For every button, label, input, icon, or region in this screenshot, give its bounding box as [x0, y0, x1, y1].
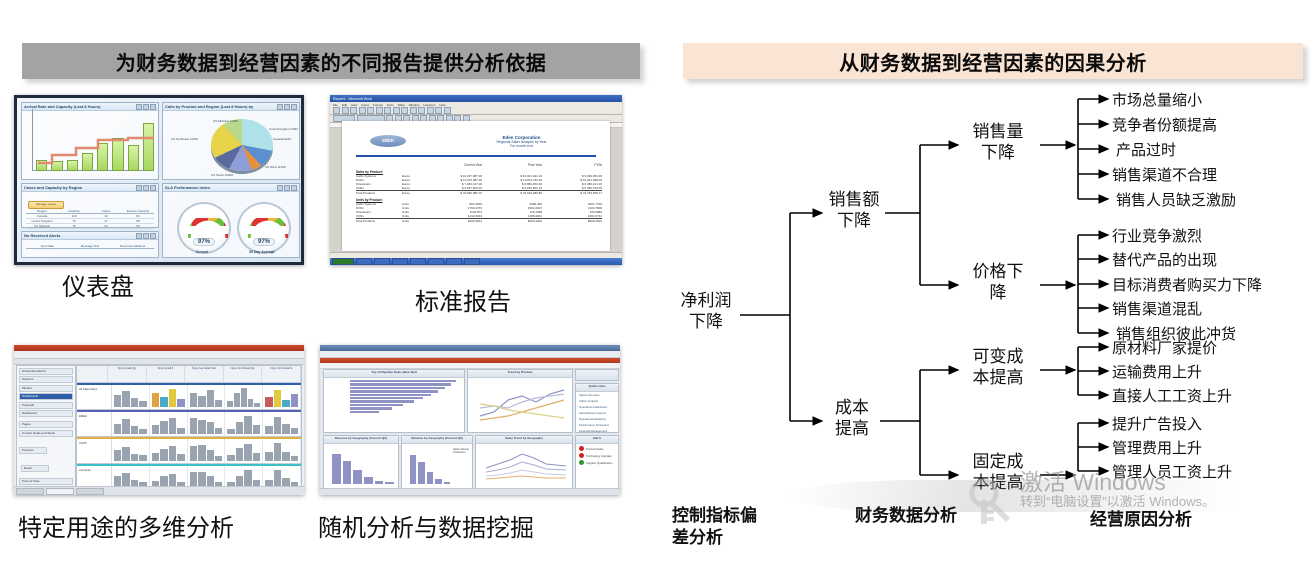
sparkline-cell — [188, 385, 226, 409]
column-label-financial: 财务数据分析 — [855, 505, 957, 527]
v2: $ 6,240,800.10 — [482, 186, 542, 190]
pie-label: Canada 9225 — [273, 137, 291, 141]
col-prior-year: Prior Year — [482, 163, 542, 167]
status-tabs[interactable] — [14, 486, 304, 495]
olap-window: Enterprise Metrics Sections Monitor Dash… — [14, 345, 304, 495]
bi-window: Top 10 Pipeline Deals (Best Net) Trend b… — [320, 345, 620, 495]
v3: 1002.0714 — [542, 214, 602, 218]
gauge-label: Current — [177, 250, 227, 254]
document-page: eden Eden Corporation Regional Sales Ana… — [342, 121, 610, 251]
cell: 58 — [122, 219, 154, 223]
card-sales-trend-by-geography: Sales Trend by Geography — [475, 435, 573, 491]
alert-label: Supplier Qualification — [586, 461, 612, 465]
metrics-grid[interactable]: Oppy Detail Qty Oppy Detail $ Oppy Avg D… — [76, 365, 302, 487]
alert-row[interactable]: Technology Upgrade — [579, 453, 615, 458]
vertical-bars — [332, 446, 394, 484]
col-oppy-avg-size: Oppy Avg Detail Size — [185, 366, 224, 382]
pie-label: United Kingdom 9362 — [269, 127, 298, 131]
alert-label: Product Sales — [586, 447, 603, 451]
tree-title: Enterprise Metrics — [19, 368, 73, 375]
col-region: Region — [26, 209, 58, 213]
row-unit: Euros — [402, 191, 422, 195]
report-heading: Eden Corporation Regional Sales Analysis… — [447, 135, 596, 148]
cell: 17 — [90, 219, 122, 223]
col-excess: Excess Capacity — [122, 209, 154, 213]
cause-effect-diagram: 净利润 下降 销售额 下降 成本 提高 销售量 下降 价格下 降 可变成 本提高… — [670, 85, 1315, 505]
thumbnail-standard-report[interactable]: Report1 - Microsoft Word File Edit View … — [330, 95, 622, 265]
menu-help[interactable]: Help — [439, 103, 445, 107]
window-buttons[interactable] — [136, 185, 156, 191]
cell: US Midwest — [26, 224, 58, 228]
trend-lines — [484, 450, 568, 482]
col-recommendations: Recommendations — [111, 244, 154, 248]
table-row[interactable]: US Midwest 75 20 55 — [26, 224, 154, 229]
cell: 84 — [122, 214, 154, 218]
pie-label: US Midwest 11306 — [213, 119, 238, 123]
card-quick-links: Quick Links Status Overview Adhoc Analys… — [575, 383, 619, 433]
panel-alerts: No Received Alerts Sent Date Message Tex… — [21, 231, 159, 258]
panel-calls-by-product: Calls by Product and Region (Last 8 Hour… — [162, 102, 300, 180]
capacity-line — [36, 131, 156, 171]
leaf-product-obsolete[interactable]: 产品过时 — [1116, 139, 1176, 160]
gauge-value: 97% — [193, 238, 215, 246]
alert-row[interactable]: Supplier Qualification — [579, 460, 615, 465]
y-axis — [32, 109, 33, 171]
sparkline-cell — [225, 412, 263, 436]
leaf-channel-chaos[interactable]: 销售渠道混乱 — [1112, 298, 1202, 319]
card-title: Alerts — [576, 436, 618, 444]
row-name: Total Products — [356, 219, 402, 223]
col-oppy-first-amt: Oppy First Detail $ — [262, 366, 301, 382]
card-title: Revenue by Geography (Current Qtr) — [324, 436, 398, 444]
cell: 75 — [58, 219, 90, 223]
grid-row[interactable]: CAPS — [77, 439, 301, 464]
sparkline-cell — [263, 439, 301, 463]
report-row: VCRsUnits1442.00341188.20011002.0714 — [356, 214, 602, 218]
v1: 1442.0034 — [422, 214, 482, 218]
nav-dashboards[interactable]: Dashboards — [19, 393, 73, 400]
card-title: Top 10 Pipeline Deals (Best Net) — [324, 370, 464, 378]
node-variable-cost-increase[interactable]: 可变成 本提高 — [958, 347, 1038, 388]
grid-row[interactable]: EMEA — [77, 412, 301, 437]
window-buttons[interactable] — [277, 185, 297, 191]
nav-monitor[interactable]: Monitor — [19, 385, 73, 392]
window-buttons[interactable] — [277, 104, 297, 110]
word-toolbar[interactable] — [330, 107, 622, 115]
menu-window[interactable]: Window — [409, 103, 420, 107]
prev-button[interactable]: Previous — [19, 447, 47, 454]
sparkline-cell — [150, 439, 188, 463]
thumbnail-multidim-analysis[interactable]: Enterprise Metrics Sections Monitor Dash… — [14, 345, 304, 495]
node-sales-volume-decline[interactable]: 销售量 下降 — [958, 122, 1038, 163]
v1: $ 34,990,982.70 — [422, 191, 482, 195]
leaf-channel-unreasonable[interactable]: 销售渠道不合理 — [1112, 164, 1217, 185]
divider — [356, 155, 596, 157]
nav-sections[interactable]: Sections — [19, 376, 73, 383]
pie-label: US Northeast 11209 — [171, 137, 198, 141]
col-current-year: Current Year — [422, 163, 482, 167]
nav-dashboard[interactable]: Dashboard — [19, 410, 73, 417]
sparkline-cell — [225, 385, 263, 409]
word-titlebar: Report1 - Microsoft Word — [330, 95, 622, 102]
cell: United Kingdom — [26, 219, 58, 223]
alert-label: Technology Upgrade — [586, 454, 612, 458]
row-name: Total Products — [356, 191, 402, 195]
menu-hyperion[interactable]: Hyperion — [423, 103, 435, 107]
cases-table: Region Capacity Cases Excess Capacity Ca… — [26, 209, 154, 225]
table-header-row: Sent Date Message Text Recommendations — [26, 244, 154, 249]
grid-header-row: Oppy Detail Qty Oppy Detail $ Oppy Avg D… — [77, 366, 301, 383]
word-window: Report1 - Microsoft Word File Edit View … — [330, 95, 622, 265]
card-title: Variance by Geography (Current Qtr) — [402, 436, 472, 444]
node-root[interactable]: 净利润 下降 — [670, 291, 742, 332]
logo-text: eden — [370, 138, 406, 144]
report-col-headers: Current Year Prior Year FY06 — [356, 163, 602, 167]
col-cases: Cases — [90, 209, 122, 213]
sparkline-cell — [150, 412, 188, 436]
caption-dashboard: 仪表盘 — [62, 267, 134, 302]
report-body: Current Year Prior Year FY06 Sales by Pr… — [356, 163, 602, 223]
activate-windows-watermark: 激活 Windows 转到“电脑设置”以激活 Windows。 — [1020, 470, 1215, 510]
cell: 16 — [90, 214, 122, 218]
gauge-value: 97% — [253, 238, 275, 246]
gauge-30day: 97% — [237, 202, 291, 254]
menu-view[interactable]: View — [351, 103, 357, 107]
row-label: EMEA — [77, 412, 112, 436]
report-subtitle-2: For month end — [447, 144, 596, 148]
node-sales-revenue-decline[interactable]: 销售额 下降 — [818, 190, 890, 231]
leaf-salesforce-unmotivated[interactable]: 销售人员缺乏激励 — [1116, 189, 1236, 210]
card-trend-by-product: Trend by Product — [467, 369, 573, 433]
panel-arrival-rate: Arrival Rate and Capacity (Last 8 Hours) — [21, 102, 159, 180]
windows-taskbar[interactable] — [330, 258, 622, 265]
pie-label: US West 11910 — [265, 165, 286, 169]
app-menubar[interactable] — [14, 351, 304, 359]
col-oppy-first-qty: Oppy First Detail Qty — [224, 366, 263, 382]
alert-row[interactable]: Product Sales — [579, 446, 615, 451]
slide-canvas: 为财务数据到经营因素的不同报告提供分析依据 Arrival Rate and C… — [0, 0, 1315, 567]
gauge-label: 30 Day Average — [237, 250, 287, 254]
eden-logo: eden — [370, 135, 406, 147]
sparkline-cell — [150, 385, 188, 409]
row-unit: Units — [402, 219, 422, 223]
sparkline-cell — [112, 385, 150, 409]
row-name: VCRs — [356, 214, 402, 218]
pages-label: Pages — [19, 421, 73, 428]
col-capacity: Capacity — [58, 209, 90, 213]
alerts-table: Sent Date Message Text Recommendations — [26, 244, 154, 255]
card-title: Quick Links — [576, 384, 618, 392]
left-section-header: 为财务数据到经营因素的不同报告提供分析依据 — [22, 43, 640, 79]
grid-row[interactable]: All Sales Reps — [77, 385, 301, 410]
report-row: VCRsEuros$ 6,667,600.00$ 6,240,800.10$ 6… — [356, 186, 602, 190]
leaf-buying-power-down[interactable]: 目标消费者购买力下降 — [1112, 274, 1262, 295]
v1: $ 6,667,600.00 — [422, 186, 482, 190]
card-title: Sales Trend by Geography — [476, 436, 572, 444]
dashboard-canvas: Arrival Rate and Capacity (Last 8 Hours)… — [14, 95, 304, 265]
thumbnail-datamining[interactable]: Top 10 Pipeline Deals (Best Net) Trend b… — [320, 345, 620, 495]
sparkline-cell — [112, 439, 150, 463]
node-price-decline[interactable]: 价格下 降 — [958, 262, 1038, 303]
col-oppy-detail-amt: Oppy Detail $ — [147, 366, 186, 382]
report-total-row: Total ProductsUnits$100,3001$200,2000$60… — [356, 218, 602, 223]
column-label-causes: 经营原因分析 — [1090, 509, 1192, 531]
menu-edit[interactable]: Edit — [342, 103, 347, 107]
menu-tools[interactable]: Tools — [387, 103, 394, 107]
card-top-deals: Top 10 Pipeline Deals (Best Net) — [323, 369, 465, 433]
leaf-competitor-share-up[interactable]: 竞争者份额提高 — [1112, 114, 1217, 135]
gauge-current: 97% — [177, 202, 231, 254]
panel-cases-capacity: Cases and Capacity by Region Manage Case… — [21, 183, 159, 228]
pie-chart — [211, 119, 273, 171]
v3: $ 31,763,878.17 — [542, 191, 602, 195]
sparkline-cell — [263, 385, 301, 409]
col-sent-date: Sent Date — [26, 244, 69, 248]
browser-menubar[interactable] — [320, 351, 620, 358]
watermark-line-1: 激活 Windows — [1020, 470, 1215, 494]
card-revenue-by-geography: Revenue by Geography (Current Qtr) — [323, 435, 399, 491]
row-unit: Euros — [402, 186, 422, 190]
leaf-admin-cost-up[interactable]: 管理费用上升 — [1112, 437, 1202, 458]
vertical-bars — [410, 446, 450, 484]
leaf-raw-material-price-up[interactable]: 原材料厂家提价 — [1112, 337, 1217, 358]
card-alerts: Alerts Product Sales Technology Upgrade … — [575, 435, 619, 491]
browser-statusbar — [320, 488, 620, 495]
watermark-line-2: 转到“电脑设置”以激活 Windows。 — [1020, 494, 1215, 510]
nav-proposal[interactable]: Proposal — [19, 402, 73, 409]
sparkline-cell — [263, 412, 301, 436]
pages-select[interactable]: Current Goals and Stock — [19, 430, 73, 437]
menu-insert[interactable]: Insert — [361, 103, 369, 107]
row-unit: Units — [402, 214, 422, 218]
cell: 55 — [122, 224, 154, 228]
alert-status-icon — [579, 453, 584, 458]
leaf-shipping-cost-up[interactable]: 运输费用上升 — [1112, 361, 1202, 382]
sparkline-cell — [188, 439, 226, 463]
pov-title: Point of View — [19, 478, 73, 485]
leaf-ad-spend-up[interactable]: 提升广告投入 — [1112, 413, 1202, 434]
menu-file[interactable]: File — [333, 103, 338, 107]
pie-label: US South 12906 — [211, 173, 233, 177]
row-label: CAPS — [77, 439, 112, 463]
leaf-industry-competition[interactable]: 行业竞争激烈 — [1112, 225, 1202, 246]
alert-status-icon — [579, 460, 584, 465]
manage-cases-button[interactable]: Manage Cases — [28, 201, 64, 209]
sparkline-cell — [188, 412, 226, 436]
toolbar-icons[interactable] — [575, 369, 619, 381]
activate-windows-key-icon — [962, 478, 1016, 526]
menu-table[interactable]: Table — [398, 103, 405, 107]
cell: 20 — [90, 224, 122, 228]
row-name: VCRs — [356, 186, 402, 190]
v3: $600,2002 — [542, 219, 602, 223]
cell: 75 — [58, 224, 90, 228]
navigation-tree[interactable]: Enterprise Metrics Sections Monitor Dash… — [16, 365, 76, 487]
thumbnail-dashboard[interactable]: Arrival Rate and Capacity (Last 8 Hours)… — [14, 95, 304, 265]
node-cost-increase[interactable]: 成本 提高 — [816, 398, 888, 439]
caption-datamining: 随机分析与数据挖掘 — [318, 508, 534, 543]
reset-button[interactable]: Reset — [21, 465, 49, 472]
cell: 100 — [58, 214, 90, 218]
v2: $ 33,629,286.80 — [482, 191, 542, 195]
window-buttons[interactable] — [136, 104, 156, 110]
card-title: Trend by Product — [468, 370, 572, 378]
col-message: Message Text — [69, 244, 112, 248]
sparkline-cell — [225, 439, 263, 463]
v3: $ 6,060,670.00 — [542, 186, 602, 190]
menu-format[interactable]: Format — [373, 103, 383, 107]
caption-standard-report: 标准报告 — [415, 282, 511, 317]
col-fy06: FY06 — [542, 163, 602, 167]
legend-item: Production — [453, 451, 469, 454]
col-oppy-detail-qty: Oppy Detail Qty — [108, 366, 147, 382]
leaf-substitutes-appear[interactable]: 替代产品的出现 — [1112, 249, 1217, 270]
sparkline-cell — [112, 412, 150, 436]
alert-status-icon — [579, 446, 584, 451]
window-buttons[interactable] — [136, 233, 156, 239]
panel-sla-performance: SLA Performance Index 97% Current 97% 30… — [162, 183, 300, 258]
v1: $100,3001 — [422, 219, 482, 223]
leaf-market-shrink[interactable]: 市场总量缩小 — [1112, 89, 1202, 110]
caption-multidim: 特定用途的多维分析 — [18, 508, 234, 543]
trend-lines — [478, 382, 566, 424]
right-section-header: 从财务数据到经营因素的因果分析 — [683, 43, 1303, 79]
v2: 1188.2001 — [482, 214, 542, 218]
window-title: Report1 - Microsoft Word — [330, 97, 372, 101]
legend: Sales Volume Production — [453, 448, 469, 454]
leaf-direct-labor-wage-up[interactable]: 直接人工工资上升 — [1112, 385, 1232, 406]
v2: $200,2000 — [482, 219, 542, 223]
dashboard-body: Top 10 Pipeline Deals (Best Net) Trend b… — [323, 369, 617, 486]
row-label: All Sales Reps — [77, 385, 112, 409]
report-total-row: Total ProductsEuros$ 34,990,982.70$ 33,6… — [356, 190, 602, 195]
column-label-control: 控制指标偏 差分析 — [672, 505, 792, 549]
horizontal-bars — [350, 380, 460, 426]
card-variance-by-geography: Variance by Geography (Current Qtr) Sale… — [401, 435, 473, 491]
cell: Canada — [26, 214, 58, 218]
